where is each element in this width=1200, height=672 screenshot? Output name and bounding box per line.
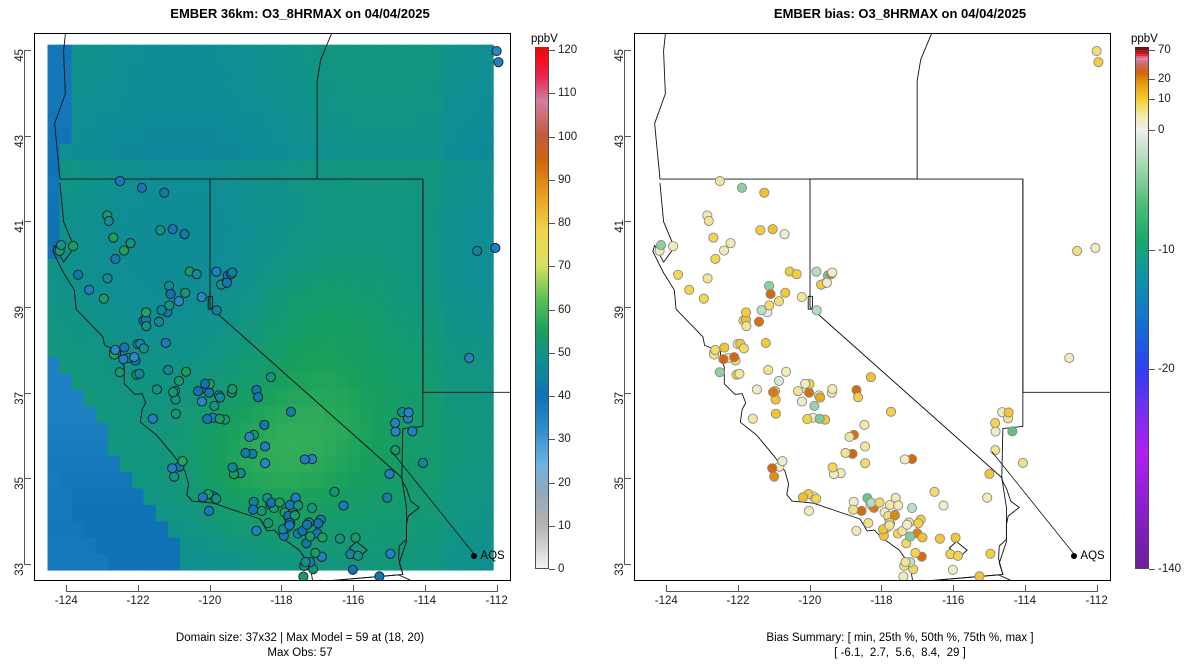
- panel-bias-plot-area[interactable]: [634, 33, 1111, 581]
- model-map-canvas: [35, 34, 510, 580]
- colorbar-tick: [1149, 79, 1155, 80]
- colorbar-tick: [549, 180, 555, 181]
- aqs-legend-label: AQS: [1080, 550, 1104, 562]
- colorbar-tick-label: 10: [558, 520, 571, 532]
- panel-bias-title: EMBER bias: O3_8HRMAX on 04/04/2025: [600, 6, 1200, 21]
- y-tick-label: 33: [614, 563, 626, 579]
- colorbar-tick: [549, 50, 555, 51]
- y-tick-label: 41: [14, 220, 26, 236]
- panel-model-aqs-legend: AQS: [471, 550, 504, 562]
- y-tick-label: 45: [14, 49, 26, 65]
- x-tick-label: -120: [198, 595, 221, 607]
- colorbar-tick-label: 70: [1158, 44, 1171, 56]
- colorbar-tick: [549, 439, 555, 440]
- colorbar-tick-label: 20: [558, 477, 571, 489]
- x-tick-label: -122: [726, 595, 749, 607]
- colorbar-tick-label: 90: [558, 174, 571, 186]
- x-tick-label: -118: [870, 595, 892, 607]
- x-tick: [210, 585, 211, 592]
- colorbar-tick: [549, 569, 555, 570]
- y-tick-label: 35: [614, 477, 626, 493]
- x-tick-label: -122: [126, 595, 149, 607]
- colorbar-tick-label: 40: [558, 390, 571, 402]
- x-tick-label: -112: [1086, 595, 1108, 607]
- colorbar-title: ppbV: [531, 33, 558, 45]
- y-tick-label: 41: [614, 220, 626, 236]
- colorbar-tick-label: 30: [558, 433, 571, 445]
- panel-bias-caption-line2: [ -6.1, 2.7, 5.6, 8.4, 29 ]: [600, 646, 1200, 660]
- x-tick-label: -120: [798, 595, 821, 607]
- x-tick-label: -124: [55, 595, 78, 607]
- x-tick-label: -114: [414, 595, 436, 607]
- colorbar-tick: [549, 93, 555, 94]
- x-tick: [881, 585, 882, 592]
- y-tick-label: 43: [14, 135, 26, 151]
- panel-bias: EMBER bias: O3_8HRMAX on 04/04/2025 -124…: [600, 0, 1200, 672]
- colorbar-tick-label: 20: [1158, 73, 1171, 85]
- colorbar-tick: [549, 353, 555, 354]
- panel-model-title: EMBER 36km: O3_8HRMAX on 04/04/2025: [0, 6, 600, 21]
- x-tick-label: -118: [270, 595, 292, 607]
- x-tick-label: -124: [655, 595, 678, 607]
- y-tick-label: 39: [614, 306, 626, 322]
- colorbar-tick-label: 100: [558, 131, 577, 143]
- aqs-marker-icon: [1071, 553, 1077, 559]
- x-tick: [281, 585, 282, 592]
- y-tick-label: 33: [14, 563, 26, 579]
- colorbar-tick: [1149, 369, 1155, 370]
- colorbar-tick: [1149, 99, 1155, 100]
- x-tick: [810, 585, 811, 592]
- y-tick-label: 39: [14, 306, 26, 322]
- colorbar-tick-label: 120: [558, 44, 577, 56]
- colorbar-tick-label: 70: [558, 260, 571, 272]
- colorbar-tick: [549, 266, 555, 267]
- aqs-legend-label: AQS: [480, 550, 504, 562]
- colorbar-tick: [549, 396, 555, 397]
- colorbar-segment: [535, 47, 549, 50]
- colorbar-tick: [1149, 569, 1155, 570]
- colorbar-tick-label: -10: [1158, 244, 1175, 256]
- colorbar-tick-label: 10: [1158, 93, 1171, 105]
- colorbar-tick-label: 0: [558, 563, 564, 575]
- aqs-marker-icon: [471, 553, 477, 559]
- x-tick: [66, 585, 67, 592]
- x-tick: [1025, 585, 1026, 592]
- colorbar-tick-label: 50: [558, 347, 571, 359]
- x-tick: [497, 585, 498, 592]
- panel-model-caption-line2: Max Obs: 57: [0, 646, 600, 660]
- x-tick: [738, 585, 739, 592]
- colorbar-title: ppbV: [1131, 33, 1158, 45]
- y-tick-label: 37: [614, 392, 626, 408]
- colorbar-tick: [549, 526, 555, 527]
- colorbar-tick-label: 0: [1158, 124, 1164, 136]
- panel-model-plot-area[interactable]: [34, 33, 511, 581]
- colorbar-tick-label: 60: [558, 304, 571, 316]
- colorbar-tick-label: -140: [1158, 563, 1181, 575]
- y-tick-label: 45: [614, 49, 626, 65]
- colorbar-tick: [549, 137, 555, 138]
- x-tick-label: -116: [942, 595, 964, 607]
- colorbar-tick: [549, 483, 555, 484]
- x-tick-label: -116: [342, 595, 364, 607]
- colorbar-tick: [549, 223, 555, 224]
- bias-map-canvas: [635, 34, 1110, 580]
- colorbar-tick: [1149, 130, 1155, 131]
- panel-model: EMBER 36km: O3_8HRMAX on 04/04/2025 -124…: [0, 0, 600, 672]
- colorbar-segment: [1135, 47, 1149, 50]
- panel-bias-aqs-legend: AQS: [1071, 550, 1104, 562]
- y-tick-label: 37: [14, 392, 26, 408]
- panel-bias-caption-line1: Bias Summary: [ min, 25th %, 50th %, 75t…: [600, 631, 1200, 645]
- x-tick: [425, 585, 426, 592]
- x-tick: [953, 585, 954, 592]
- x-tick: [138, 585, 139, 592]
- colorbar-tick-label: -20: [1158, 363, 1175, 375]
- y-tick-label: 35: [14, 477, 26, 493]
- colorbar-tick: [1149, 250, 1155, 251]
- x-tick-label: -114: [1014, 595, 1036, 607]
- figure-root: EMBER 36km: O3_8HRMAX on 04/04/2025 -124…: [0, 0, 1200, 672]
- x-tick: [1097, 585, 1098, 592]
- colorbar-tick-label: 110: [558, 87, 576, 99]
- colorbar-tick-label: 80: [558, 217, 571, 229]
- colorbar-tick: [1149, 50, 1155, 51]
- colorbar-tick: [549, 310, 555, 311]
- x-tick: [666, 585, 667, 592]
- x-tick-label: -112: [486, 595, 508, 607]
- panel-model-caption-line1: Domain size: 37x32 | Max Model = 59 at (…: [0, 631, 600, 645]
- x-tick: [353, 585, 354, 592]
- y-tick-label: 43: [614, 135, 626, 151]
